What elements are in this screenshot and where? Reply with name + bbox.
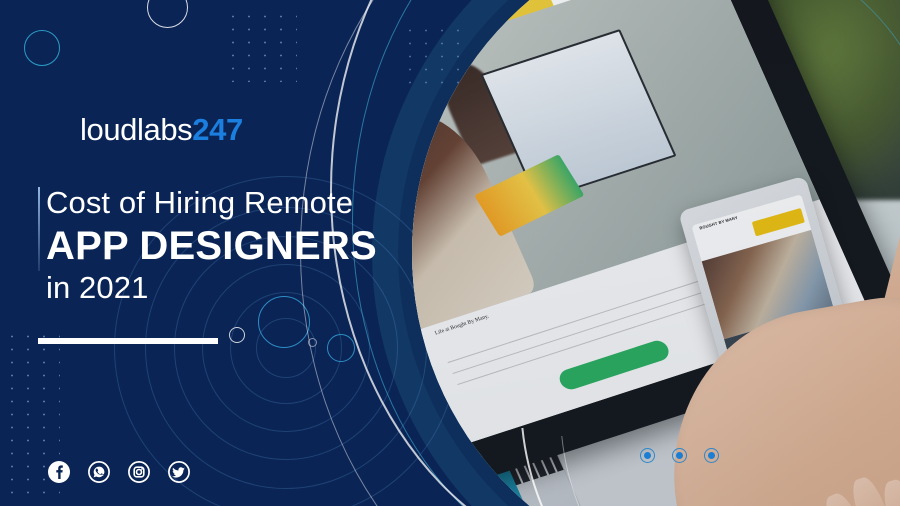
- headline-underline-bar: [38, 338, 218, 344]
- instagram-icon[interactable]: [128, 461, 150, 483]
- dot-grid-top: [225, 10, 297, 82]
- headline-line-3: in 2021: [46, 271, 446, 306]
- headline-accent-rule: [38, 187, 40, 271]
- carousel-dot-2[interactable]: [672, 448, 687, 463]
- facebook-icon[interactable]: [48, 461, 70, 483]
- brand-logo[interactable]: loudlabs247: [36, 103, 243, 153]
- brand-name-accent: 247: [192, 112, 243, 147]
- carousel-indicators[interactable]: [640, 448, 719, 463]
- headline-line-1: Cost of Hiring Remote: [46, 186, 446, 221]
- cloud-c-logo-icon: [36, 103, 86, 153]
- decorative-circle-white-small: [229, 327, 245, 343]
- decorative-circle-cyan-small: [24, 30, 60, 66]
- carousel-dot-3[interactable]: [704, 448, 719, 463]
- social-links: [48, 461, 190, 483]
- twitter-icon[interactable]: [168, 461, 190, 483]
- hero-banner: Life at Bought By Many.: [0, 0, 900, 506]
- headline-block: Cost of Hiring Remote APP DESIGNERS in 2…: [46, 186, 446, 306]
- whatsapp-icon[interactable]: [88, 461, 110, 483]
- brand-logo-text: loudlabs247: [80, 114, 243, 145]
- headline-line-2: APP DESIGNERS: [46, 223, 446, 269]
- brand-name-primary: loudlabs: [80, 112, 192, 147]
- carousel-dot-1[interactable]: [640, 448, 655, 463]
